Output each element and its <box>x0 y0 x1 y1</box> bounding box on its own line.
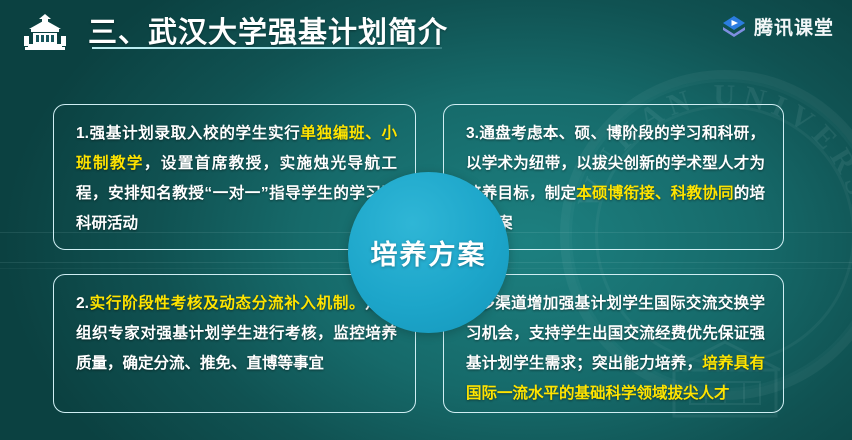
title-underline <box>92 47 442 49</box>
content-box-4-text: 4.多渠道增加强基计划学生国际交流交换学习机会，支持学生出国交流经费优先保证强基… <box>466 289 765 409</box>
brand-name: 腾讯课堂 <box>754 13 834 40</box>
content-box-2-text: 2.实行阶段性考核及动态分流补入机制。定期组织专家对强基计划学生进行考核，监控培… <box>76 289 397 379</box>
tencent-classroom-play-icon <box>721 14 747 40</box>
wuhan-university-building-icon <box>22 12 68 52</box>
content-box-1-text: 1.强基计划录取入校的学生实行单独编班、小班制教学，设置首席教授，实施烛光导航工… <box>76 119 397 239</box>
page-title: 三、武汉大学强基计划简介 <box>88 9 448 51</box>
body-text: 2. <box>76 295 89 312</box>
body-text: 1.强基计划录取入校的学生实行 <box>76 125 300 142</box>
content-box-3-text: 3.通盘考虑本、硕、博阶段的学习和科研，以学术为纽带，以拔尖创新的学术型人才为培… <box>466 119 765 239</box>
center-hub-label: 培养方案 <box>371 233 487 272</box>
center-hub-circle: 培养方案 <box>348 172 509 333</box>
slide-canvas: WUHAN UNIVERSITY <box>0 0 852 440</box>
brand-lockup: 腾讯课堂 <box>721 13 834 40</box>
highlighted-text: 实行阶段性考核及动态分流补入机制。 <box>89 295 365 312</box>
highlighted-text: 本硕博衔接、科教协同 <box>576 185 733 202</box>
slide-header: 三、武汉大学强基计划简介 腾讯课堂 <box>0 0 852 62</box>
